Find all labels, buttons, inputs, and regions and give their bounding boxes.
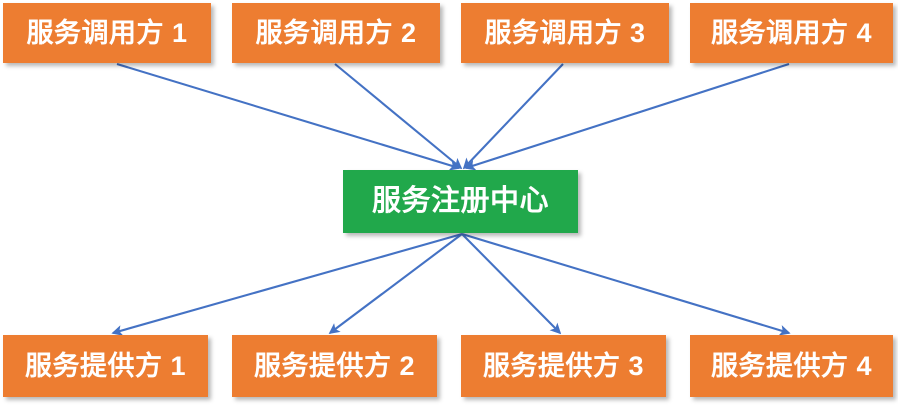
consumer-label-1: 服务调用方 1: [26, 20, 187, 47]
consumer-label-2: 服务调用方 2: [255, 20, 416, 47]
service-registry-diagram: 服务调用方 1 服务调用方 2 服务调用方 3 服务调用方 4 服务注册中心 服…: [0, 0, 898, 410]
arrows-consumers-to-registry: [117, 64, 789, 168]
provider-box-3[interactable]: 服务提供方 3: [461, 335, 666, 397]
arrow: [466, 64, 789, 168]
arrow: [330, 234, 462, 333]
arrows-registry-to-providers: [113, 234, 789, 333]
provider-label-4: 服务提供方 4: [711, 353, 872, 380]
consumer-box-4[interactable]: 服务调用方 4: [690, 3, 893, 63]
arrow: [462, 234, 560, 333]
consumer-box-3[interactable]: 服务调用方 3: [461, 3, 669, 63]
provider-label-1: 服务提供方 1: [25, 353, 186, 380]
provider-box-2[interactable]: 服务提供方 2: [232, 335, 437, 397]
service-registry-label: 服务注册中心: [372, 187, 549, 216]
arrow: [335, 64, 461, 168]
provider-box-1[interactable]: 服务提供方 1: [3, 335, 208, 397]
arrow: [464, 64, 563, 168]
arrow: [462, 234, 789, 333]
provider-label-2: 服务提供方 2: [254, 353, 415, 380]
consumer-label-4: 服务调用方 4: [711, 20, 872, 47]
consumer-box-2[interactable]: 服务调用方 2: [232, 3, 440, 63]
service-registry-box[interactable]: 服务注册中心: [343, 170, 578, 233]
arrow: [113, 234, 462, 333]
consumer-box-1[interactable]: 服务调用方 1: [3, 3, 211, 63]
arrow: [117, 64, 459, 168]
consumer-label-3: 服务调用方 3: [484, 20, 645, 47]
provider-box-4[interactable]: 服务提供方 4: [690, 335, 893, 397]
provider-label-3: 服务提供方 3: [483, 353, 644, 380]
